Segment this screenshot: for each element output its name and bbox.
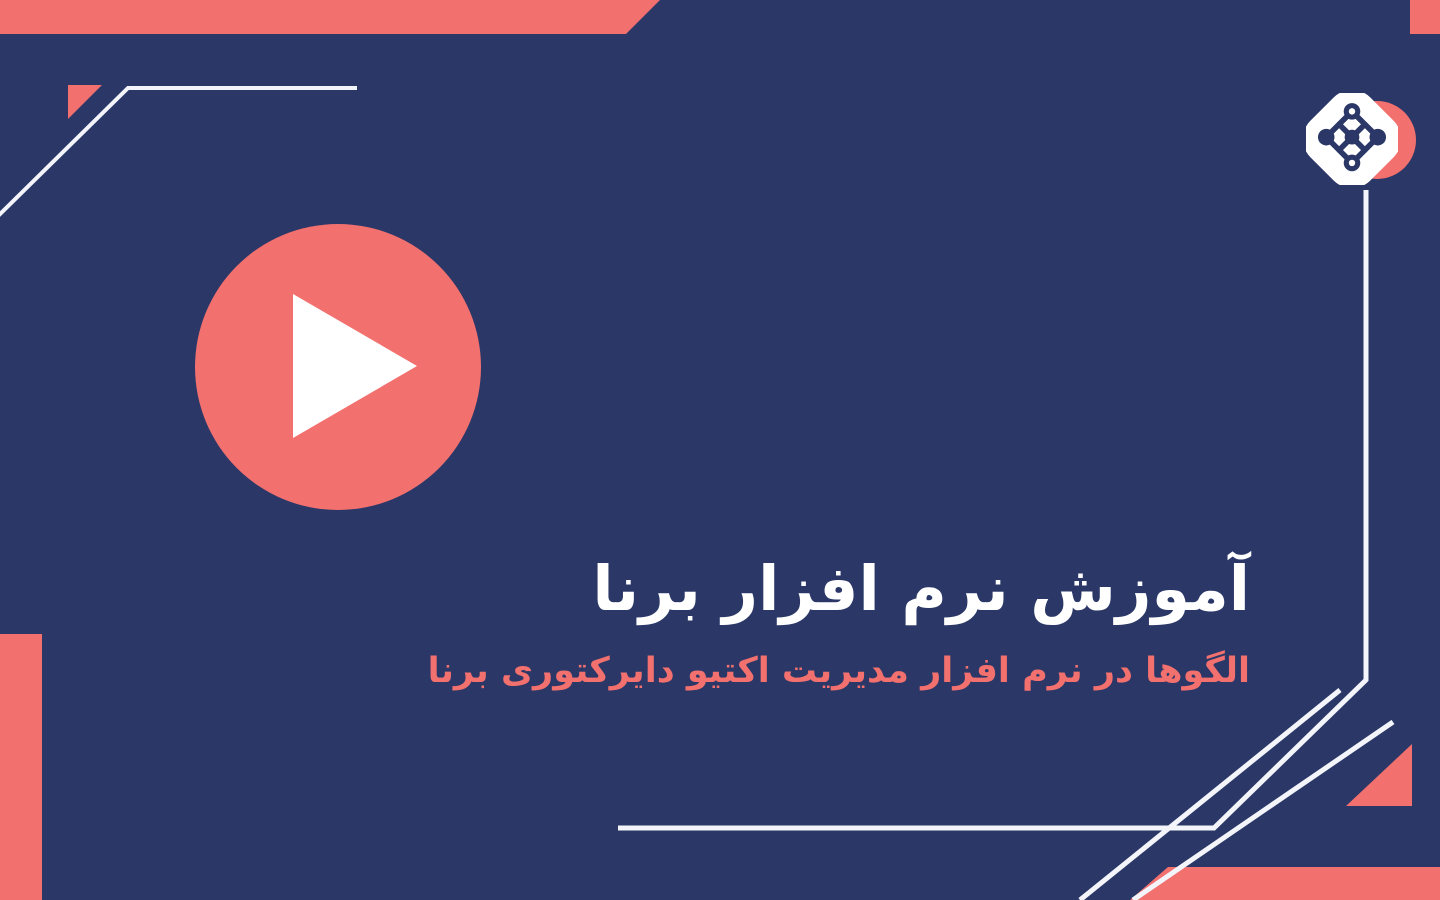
brand-logo[interactable] <box>1306 93 1416 188</box>
diagonal-accent-line-a <box>1133 722 1393 900</box>
page-title: آموزش نرم افزار برنا <box>150 552 1250 626</box>
bottom-right-parallelogram <box>1130 867 1440 900</box>
decorative-lines <box>0 0 1440 900</box>
top-left-triangle-icon <box>68 85 102 119</box>
spacer-line <box>1110 680 1366 900</box>
play-triangle-icon <box>293 294 417 438</box>
diagonal-accent-line-b <box>1080 690 1340 900</box>
diagonal-accent-line-spacer <box>1047 700 1302 900</box>
network-diamond-icon <box>1306 93 1398 185</box>
left-accent-bar <box>0 634 42 900</box>
play-button[interactable] <box>195 224 481 510</box>
slide-canvas: آموزش نرم افزار برنا الگوها در نرم افزار… <box>0 0 1440 900</box>
top-right-accent-block <box>1410 0 1440 34</box>
title-block: آموزش نرم افزار برنا الگوها در نرم افزار… <box>150 552 1250 696</box>
polyline-top-left <box>0 88 357 216</box>
decorative-lines-overlay <box>0 0 1440 900</box>
polyline-right <box>618 190 1366 828</box>
page-subtitle: الگوها در نرم افزار مدیریت اکتیو دایرکتو… <box>150 648 1250 695</box>
top-accent-band <box>0 0 660 34</box>
bottom-right-triangle-icon <box>1346 744 1412 806</box>
